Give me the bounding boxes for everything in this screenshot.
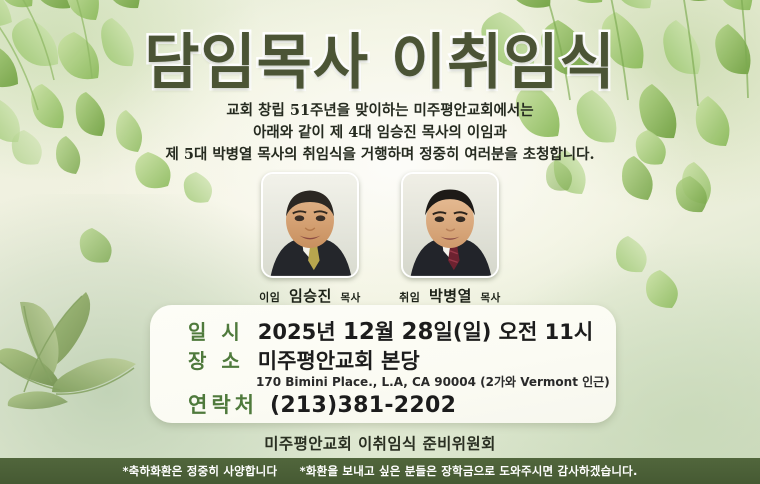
caption-outgoing: 이임 임승진 목사: [257, 285, 363, 306]
invitation-line-2: 아래와 같이 제 4대 임승진 목사의 이임과: [0, 122, 760, 144]
datetime-label: 일 시: [188, 320, 244, 344]
poster-canvas: 담임목사 이취임식 교회 창립 51주년을 맞이하는 미주평안교회에서는 아래와…: [0, 0, 760, 484]
detail-row-datetime: 일 시2025년 12월 28일(일) 오전 11시: [188, 316, 593, 346]
footer-notes: *축하화환은 정중히 사양합니다 *화환을 보내고 싶은 분들은 장학금으로 도…: [122, 463, 637, 479]
caption-name-outgoing: 임승진: [289, 287, 332, 305]
portrait-row: 이임 임승진 목사: [0, 172, 760, 306]
portrait-block-incoming: 취임 박병열 목사: [397, 172, 503, 306]
place-value: 미주평안교회 본당: [258, 349, 420, 373]
datetime-year: 2025년: [258, 320, 343, 344]
detail-address: 170 Bimini Place., L.A, CA 90004 (2가와 Ve…: [256, 373, 610, 390]
caption-role-outgoing: 이임: [259, 291, 280, 304]
detail-row-place: 장 소미주평안교회 본당: [188, 345, 420, 375]
organizer-line: 미주평안교회 이취임식 준비위원회: [0, 432, 760, 454]
caption-incoming: 취임 박병열 목사: [397, 285, 503, 306]
event-details-card: 일 시2025년 12월 28일(일) 오전 11시 장 소미주평안교회 본당 …: [150, 305, 616, 423]
footer-note-1: *축하화환은 정중히 사양합니다: [122, 464, 277, 478]
caption-name-incoming: 박병열: [429, 287, 472, 305]
phone-value[interactable]: (213)381-2202: [270, 393, 456, 418]
portrait-incoming-pastor: [401, 172, 499, 278]
caption-suffix-incoming: 목사: [480, 292, 500, 304]
datetime-day: 28: [402, 319, 434, 345]
portrait-block-outgoing: 이임 임승진 목사: [257, 172, 363, 306]
invitation-line-1: 교회 창립 51주년을 맞이하는 미주평안교회에서는: [0, 100, 760, 122]
datetime-month: 12: [343, 319, 375, 345]
caption-role-incoming: 취임: [399, 291, 420, 304]
caption-suffix-outgoing: 목사: [340, 292, 360, 304]
footer-note-2: *화환을 보내고 싶은 분들은 장학금으로 도와주시면 감사하겠습니다.: [300, 464, 638, 478]
place-label: 장 소: [188, 349, 244, 373]
portrait-outgoing-pastor: [261, 172, 359, 278]
footer-bar: *축하화환은 정중히 사양합니다 *화환을 보내고 싶은 분들은 장학금으로 도…: [0, 458, 760, 484]
datetime-suffix: 일(일) 오전 11시: [434, 320, 594, 344]
detail-row-phone[interactable]: 연락처(213)381-2202: [188, 389, 456, 419]
page-title: 담임목사 이취임식: [0, 14, 760, 101]
phone-label: 연락처: [188, 393, 258, 417]
datetime-month-unit: 월: [375, 320, 402, 344]
invitation-text: 교회 창립 51주년을 맞이하는 미주평안교회에서는 아래와 같이 제 4대 임…: [0, 100, 760, 166]
invitation-line-3: 제 5대 박병열 목사의 취임식을 거행하며 정중히 여러분을 초청합니다.: [0, 144, 760, 166]
